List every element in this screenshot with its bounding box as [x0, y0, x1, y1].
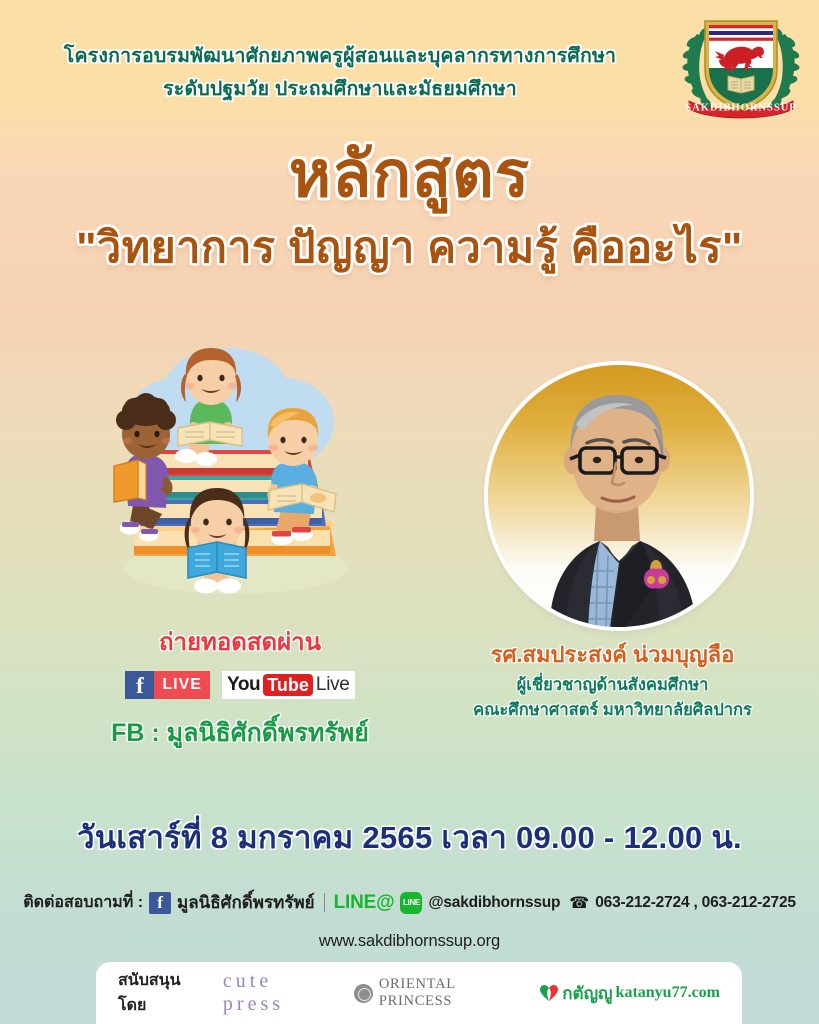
facebook-icon: f	[125, 671, 154, 699]
sponsor-logo-katanyu: กตัญญู katanyu77.com	[539, 980, 720, 1007]
speaker-info-block: รศ.สมประสงค์ น่วมบุญลือ ผู้เชี่ยวชาญด้าน…	[440, 640, 785, 723]
line-id[interactable]: @sakdibhornssup	[428, 894, 560, 912]
oriental-princess-emblem-icon	[354, 984, 373, 1003]
oriental-princess-text: ORIENTAL PRINCESS	[379, 976, 517, 1010]
live-badges: f LIVE You Tube Live	[60, 671, 420, 699]
sponsor-label: สนับสนุนโดย	[118, 968, 201, 1018]
youtube-you-text: You	[227, 674, 260, 696]
title-block: หลักสูตร "วิทยาการ ปัญญา ความรู้ คืออะไร…	[0, 136, 819, 278]
line-icon[interactable]: LINE	[400, 892, 422, 914]
header-line-2: ระดับปฐมวัย ประถมศึกษาและมัธยมศึกษา	[0, 75, 680, 103]
page-subtitle: "วิทยาการ ปัญญา ความรู้ คืออะไร"	[0, 218, 819, 278]
speaker-role: ผู้เชี่ยวชาญด้านสังคมศึกษา	[440, 673, 785, 698]
live-broadcast-block: ถ่ายทอดสดผ่าน f LIVE You Tube Live FB : …	[60, 628, 420, 753]
facebook-icon[interactable]: f	[149, 892, 171, 914]
facebook-page-name[interactable]: FB : มูลนิธิศักดิ์พรทรัพย์	[60, 713, 420, 753]
sponsor-logo-oriental-princess: ORIENTAL PRINCESS	[354, 976, 517, 1010]
line-label: LINE@	[334, 892, 395, 914]
speaker-organization: คณะศึกษาศาสตร์ มหาวิทยาลัยศิลปากร	[440, 698, 785, 723]
header-text-block: โครงการอบรมพัฒนาศักยภาพครูผู้สอนและบุคลา…	[0, 42, 680, 103]
poster-header: โครงการอบรมพัฒนาศักยภาพครูผู้สอนและบุคลา…	[0, 0, 819, 130]
line-icon-text: LINE	[403, 898, 420, 907]
youtube-tube-icon: Tube	[263, 674, 313, 696]
contact-label: ติดต่อสอบถามที่ :	[23, 890, 143, 915]
katanyu-heart-icon	[539, 984, 559, 1002]
youtube-live-label: Live	[316, 674, 350, 696]
sponsor-bar: สนับสนุนโดย cute press ORIENTAL PRINCESS…	[96, 962, 742, 1024]
website-url[interactable]: www.sakdibhornssup.org	[0, 932, 819, 951]
katanyu-thai-text: กตัญญู	[562, 980, 612, 1007]
sakdibhornssup-crest-logo: SAKDIBHORNSSUP	[671, 6, 811, 124]
schedule-datetime: วันเสาร์ที่ 8 มกราคม 2565 เวลา 09.00 - 1…	[0, 812, 819, 862]
youtube-live-badge[interactable]: You Tube Live	[222, 671, 355, 699]
speaker-name: รศ.สมประสงค์ น่วมบุญลือ	[440, 640, 785, 670]
facebook-live-badge[interactable]: f LIVE	[125, 671, 210, 699]
live-heading: ถ่ายทอดสดผ่าน	[60, 628, 420, 658]
poster-root: โครงการอบรมพัฒนาศักยภาพครูผู้สอนและบุคลา…	[0, 0, 819, 1024]
facebook-live-label: LIVE	[154, 671, 210, 699]
contact-facebook-name[interactable]: มูลนิธิศักดิ์พรทรัพย์	[177, 889, 315, 916]
header-line-1: โครงการอบรมพัฒนาศักยภาพครูผู้สอนและบุคลา…	[0, 42, 680, 70]
phone-numbers[interactable]: 063-212-2724 , 063-212-2725	[595, 894, 796, 912]
crest-banner-text: SAKDIBHORNSSUP	[685, 103, 796, 114]
contact-divider	[324, 893, 325, 912]
contact-row: ติดต่อสอบถามที่ : f มูลนิธิศักดิ์พรทรัพย…	[0, 889, 819, 916]
speaker-portrait-photo	[488, 365, 750, 627]
children-reading-books-illustration	[86, 330, 386, 620]
sponsor-logo-cute-press: cute press	[223, 970, 332, 1016]
page-title: หลักสูตร	[0, 136, 819, 212]
katanyu-url-text: katanyu77.com	[616, 984, 720, 1002]
phone-icon: ☎	[569, 893, 589, 913]
